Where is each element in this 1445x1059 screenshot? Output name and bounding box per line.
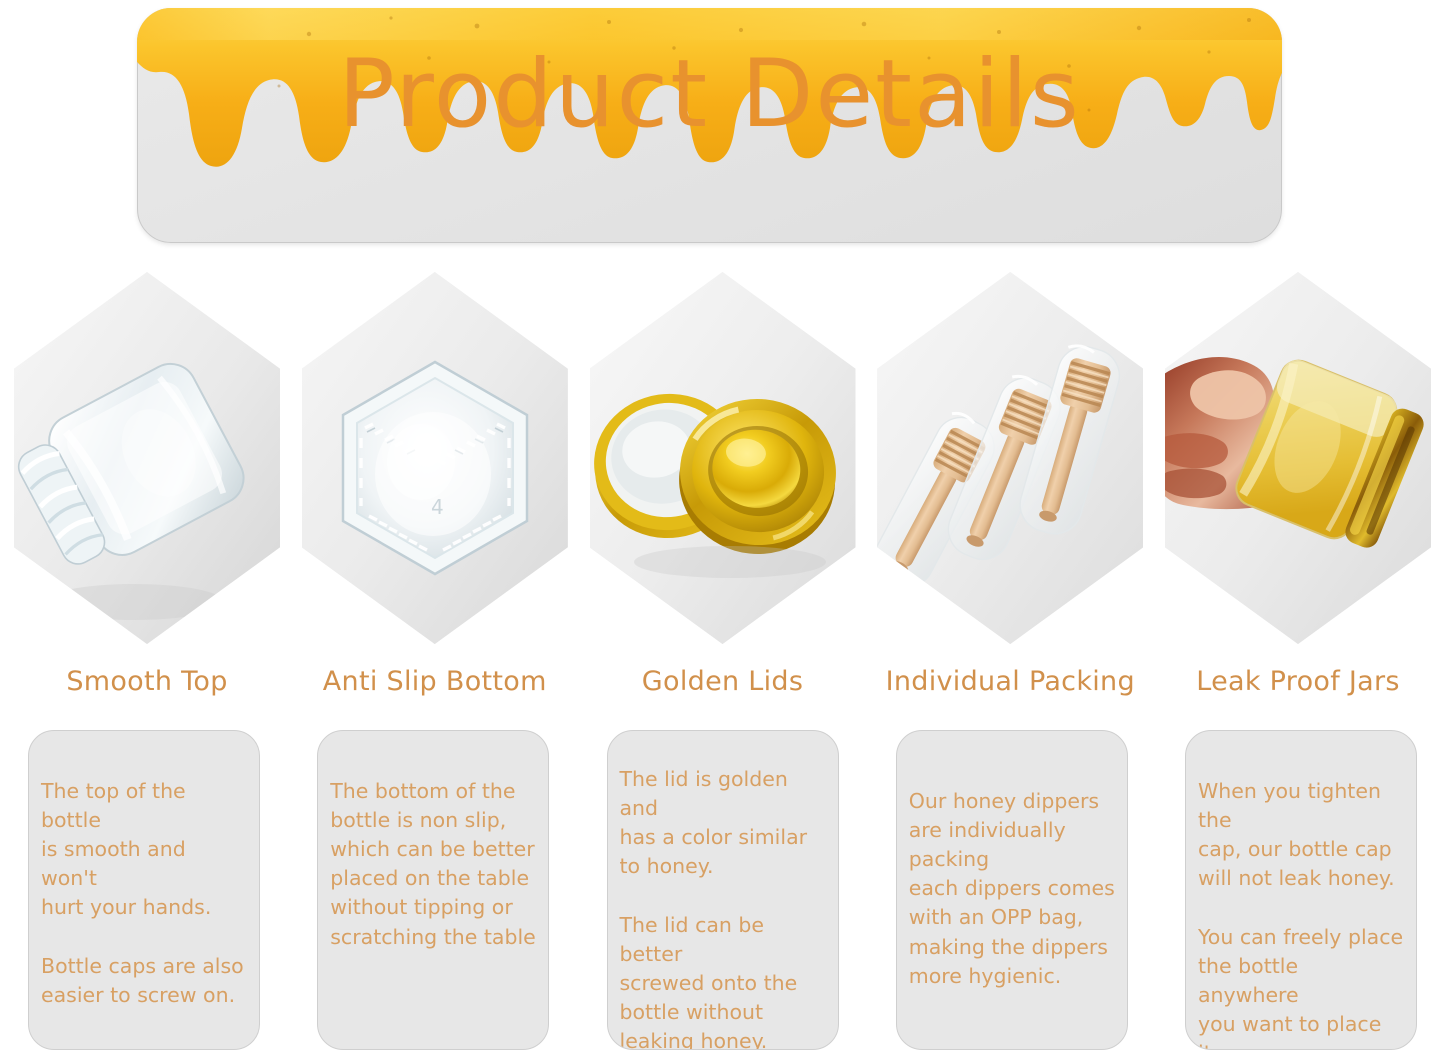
feature-label-golden-lids: Golden Lids	[642, 666, 803, 697]
feature-column-individual-packing: Individual Packing	[877, 272, 1143, 697]
leak-proof-jars-hexagon-image	[1165, 272, 1431, 644]
smooth-top-hexagon-image	[14, 272, 280, 644]
feature-column-anti-slip-bottom: 4 Anti Slip Bottom	[302, 272, 568, 697]
description-card-row: The top of the bottle is smooth and won'…	[0, 730, 1445, 1050]
individual-packing-hexagon-image	[877, 272, 1143, 644]
svg-text:4: 4	[431, 495, 444, 519]
description-card-golden-lids: The lid is golden and has a color simila…	[607, 730, 839, 1050]
description-card-anti-slip-bottom: The bottom of the bottle is non slip, wh…	[317, 730, 549, 1050]
feature-label-individual-packing: Individual Packing	[886, 666, 1135, 697]
feature-label-leak-proof-jars: Leak Proof Jars	[1196, 666, 1400, 697]
golden-lids-hexagon-image	[590, 272, 856, 644]
description-card-leak-proof-jars: When you tighten the cap, our bottle cap…	[1185, 730, 1417, 1050]
page-title: Product Details	[137, 8, 1282, 243]
feature-column-golden-lids: Golden Lids	[590, 272, 856, 697]
feature-hexagon-row: Smooth Top	[0, 272, 1445, 697]
description-card-smooth-top: The top of the bottle is smooth and won'…	[28, 730, 260, 1050]
description-card-individual-packing: Our honey dippers are individually packi…	[896, 730, 1128, 1050]
feature-label-anti-slip-bottom: Anti Slip Bottom	[323, 666, 547, 697]
feature-column-smooth-top: Smooth Top	[14, 272, 280, 697]
feature-label-smooth-top: Smooth Top	[66, 666, 227, 697]
feature-column-leak-proof-jars: Leak Proof Jars	[1165, 272, 1431, 697]
anti-slip-bottom-hexagon-image: 4	[302, 272, 568, 644]
header-banner: Product Details	[137, 8, 1282, 243]
